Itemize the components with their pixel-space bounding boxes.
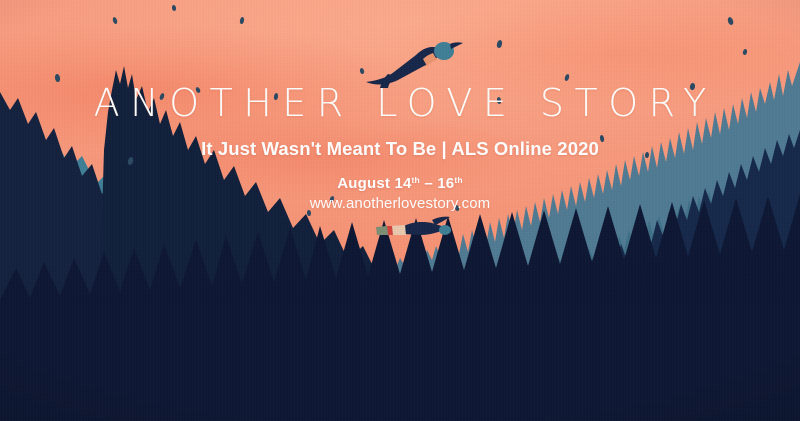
poster-canvas: ANOTHER LOVE STORY It Just Wasn't Meant … xyxy=(0,0,800,421)
website-url[interactable]: www.anotherlovestory.com xyxy=(0,195,800,212)
date-prefix: August 14 xyxy=(337,175,411,192)
date-ordinal-second: th xyxy=(454,175,462,185)
date-middle: – 16 xyxy=(420,175,454,192)
event-dates: August 14th – 16th xyxy=(0,172,800,192)
date-ordinal-first: th xyxy=(412,175,420,185)
foreground-base xyxy=(0,301,800,421)
poster-subtitle: It Just Wasn't Meant To Be | ALS Online … xyxy=(0,139,800,159)
distant-bird-speck xyxy=(172,5,177,12)
bird-small-lower-icon xyxy=(374,216,452,246)
page-title: ANOTHER LOVE STORY xyxy=(0,84,800,122)
